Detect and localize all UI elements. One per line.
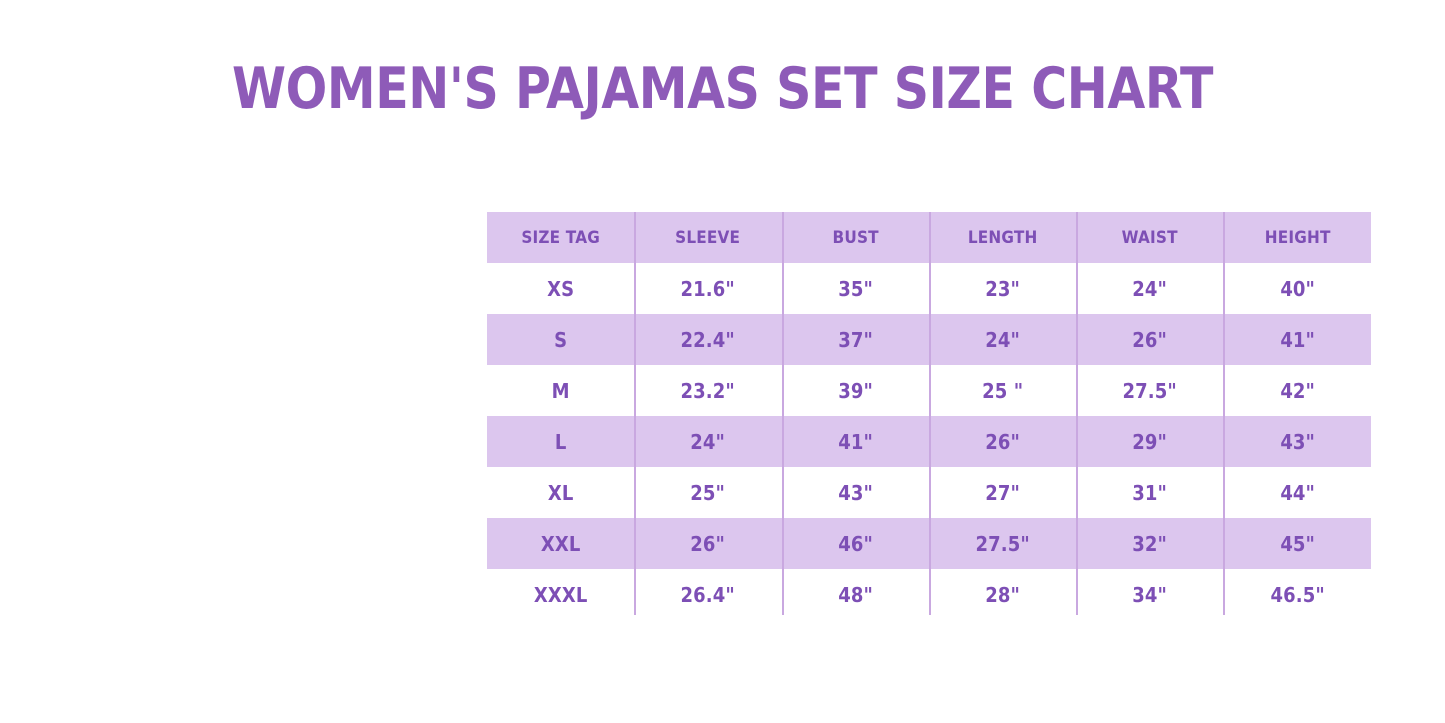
- cell-value: M: [494, 379, 627, 403]
- size-chart-table-container: SIZE TAG SLEEVE BUST LENGTH WAIST HEIGHT…: [487, 212, 1371, 620]
- cell-size-tag: XXXL: [487, 569, 634, 620]
- cell-value: 34": [1084, 583, 1217, 607]
- cell-sleeve: 22.4": [634, 314, 781, 365]
- cell-value: XXL: [494, 532, 627, 556]
- column-header-waist-label: WAIST: [1084, 228, 1217, 248]
- cell-size-tag: L: [487, 416, 634, 467]
- cell-value: 46.5": [1231, 583, 1364, 607]
- cell-waist: 26": [1076, 314, 1223, 365]
- size-chart-page: WOMEN'S PAJAMAS SET SIZE CHART SIZE TAG …: [0, 0, 1445, 723]
- table-header-row: SIZE TAG SLEEVE BUST LENGTH WAIST HEIGHT: [487, 212, 1371, 263]
- cell-value: 32": [1084, 532, 1217, 556]
- cell-value: XS: [494, 277, 627, 301]
- cell-value: 26": [642, 532, 775, 556]
- cell-waist: 27.5": [1076, 365, 1223, 416]
- table-row: XXXL 26.4" 48" 28" 34" 46.5": [487, 569, 1371, 620]
- table-row: L 24" 41" 26" 29" 43": [487, 416, 1371, 467]
- column-header-height-label: HEIGHT: [1231, 228, 1364, 248]
- cell-value: 27.5": [1084, 379, 1217, 403]
- column-header-size-tag: SIZE TAG: [487, 212, 634, 263]
- cell-value: 35": [789, 277, 922, 301]
- cell-value: 24": [642, 430, 775, 454]
- cell-height: 43": [1224, 416, 1371, 467]
- cell-bust: 48": [782, 569, 929, 620]
- cell-bust: 43": [782, 467, 929, 518]
- cell-waist: 29": [1076, 416, 1223, 467]
- cell-length: 27": [929, 467, 1076, 518]
- table-row: XXL 26" 46" 27.5" 32" 45": [487, 518, 1371, 569]
- table-row: S 22.4" 37" 24" 26" 41": [487, 314, 1371, 365]
- cell-sleeve: 24": [634, 416, 781, 467]
- cell-size-tag: XL: [487, 467, 634, 518]
- cell-value: 27.5": [936, 532, 1069, 556]
- column-header-length: LENGTH: [929, 212, 1076, 263]
- cell-value: 42": [1231, 379, 1364, 403]
- cell-value: 23": [936, 277, 1069, 301]
- cell-size-tag: S: [487, 314, 634, 365]
- page-title: WOMEN'S PAJAMAS SET SIZE CHART: [101, 56, 1344, 122]
- cell-value: 24": [1084, 277, 1217, 301]
- cell-length: 27.5": [929, 518, 1076, 569]
- cell-bust: 41": [782, 416, 929, 467]
- column-header-sleeve: SLEEVE: [634, 212, 781, 263]
- column-header-size-tag-label: SIZE TAG: [494, 228, 627, 248]
- cell-height: 42": [1224, 365, 1371, 416]
- cell-length: 25 ": [929, 365, 1076, 416]
- table-header: SIZE TAG SLEEVE BUST LENGTH WAIST HEIGHT: [487, 212, 1371, 263]
- cell-bust: 46": [782, 518, 929, 569]
- cell-value: 24": [936, 328, 1069, 352]
- table-row: M 23.2" 39" 25 " 27.5" 42": [487, 365, 1371, 416]
- table-row: XS 21.6" 35" 23" 24" 40": [487, 263, 1371, 314]
- cell-sleeve: 21.6": [634, 263, 781, 314]
- cell-waist: 32": [1076, 518, 1223, 569]
- cell-value: L: [494, 430, 627, 454]
- size-chart-table: SIZE TAG SLEEVE BUST LENGTH WAIST HEIGHT…: [487, 212, 1371, 620]
- cell-value: 29": [1084, 430, 1217, 454]
- cell-value: 37": [789, 328, 922, 352]
- cell-bust: 37": [782, 314, 929, 365]
- cell-height: 46.5": [1224, 569, 1371, 620]
- cell-value: 45": [1231, 532, 1364, 556]
- column-header-bust: BUST: [782, 212, 929, 263]
- cell-value: 22.4": [642, 328, 775, 352]
- cell-value: S: [494, 328, 627, 352]
- cell-waist: 31": [1076, 467, 1223, 518]
- cell-sleeve: 25": [634, 467, 781, 518]
- cell-value: 25": [642, 481, 775, 505]
- cell-size-tag: XXL: [487, 518, 634, 569]
- cell-value: 28": [936, 583, 1069, 607]
- cell-value: 48": [789, 583, 922, 607]
- cell-height: 41": [1224, 314, 1371, 365]
- cell-value: 41": [1231, 328, 1364, 352]
- cell-value: 41": [789, 430, 922, 454]
- cell-value: 46": [789, 532, 922, 556]
- cell-sleeve: 23.2": [634, 365, 781, 416]
- cell-length: 28": [929, 569, 1076, 620]
- cell-length: 23": [929, 263, 1076, 314]
- cell-value: 26": [936, 430, 1069, 454]
- cell-size-tag: M: [487, 365, 634, 416]
- cell-height: 40": [1224, 263, 1371, 314]
- cell-value: 31": [1084, 481, 1217, 505]
- cell-size-tag: XS: [487, 263, 634, 314]
- cell-value: XL: [494, 481, 627, 505]
- cell-value: 39": [789, 379, 922, 403]
- cell-value: 25 ": [936, 379, 1069, 403]
- cell-value: 26": [1084, 328, 1217, 352]
- column-header-waist: WAIST: [1076, 212, 1223, 263]
- cell-value: 27": [936, 481, 1069, 505]
- cell-sleeve: 26": [634, 518, 781, 569]
- column-header-bust-label: BUST: [789, 228, 922, 248]
- cell-sleeve: 26.4": [634, 569, 781, 620]
- cell-height: 45": [1224, 518, 1371, 569]
- cell-waist: 24": [1076, 263, 1223, 314]
- column-header-sleeve-label: SLEEVE: [642, 228, 775, 248]
- column-header-height: HEIGHT: [1224, 212, 1371, 263]
- cell-value: 26.4": [642, 583, 775, 607]
- cell-value: 44": [1231, 481, 1364, 505]
- cell-bust: 35": [782, 263, 929, 314]
- cell-bust: 39": [782, 365, 929, 416]
- table-body: XS 21.6" 35" 23" 24" 40" S 22.4" 37" 24"…: [487, 263, 1371, 620]
- cell-value: XXXL: [494, 583, 627, 607]
- cell-value: 40": [1231, 277, 1364, 301]
- column-header-length-label: LENGTH: [936, 228, 1069, 248]
- cell-value: 23.2": [642, 379, 775, 403]
- cell-waist: 34": [1076, 569, 1223, 620]
- cell-value: 21.6": [642, 277, 775, 301]
- cell-height: 44": [1224, 467, 1371, 518]
- cell-length: 26": [929, 416, 1076, 467]
- cell-length: 24": [929, 314, 1076, 365]
- cell-value: 43": [1231, 430, 1364, 454]
- table-row: XL 25" 43" 27" 31" 44": [487, 467, 1371, 518]
- cell-value: 43": [789, 481, 922, 505]
